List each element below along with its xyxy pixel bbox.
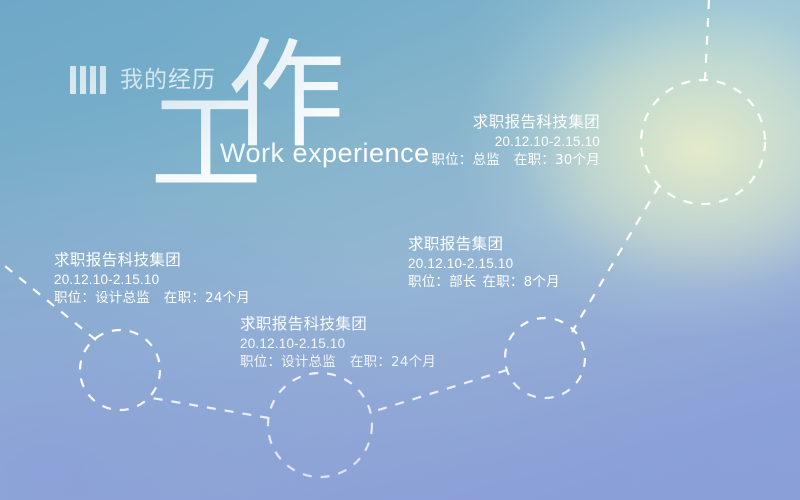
entry-meta: 职位：总监在职：30个月 xyxy=(431,151,600,170)
entry-position-label: 职位： xyxy=(431,152,472,168)
entry-meta: 职位：部长在职：8个月 xyxy=(408,273,560,292)
entry-dates: 20.12.10-2.15.10 xyxy=(431,132,600,151)
entry-company: 求职报告科技集团 xyxy=(54,250,250,270)
entry-left: 求职报告科技集团 20.12.10-2.15.10 职位：设计总监在职：24个月 xyxy=(54,250,250,308)
entry-position-label: 职位： xyxy=(408,274,449,290)
entry-tenure-label: 在职： xyxy=(514,152,555,168)
entry-dates: 20.12.10-2.15.10 xyxy=(408,254,560,273)
node-large-top-right xyxy=(641,80,765,204)
title-block: 我的经历 作 工 Work experience xyxy=(62,52,482,182)
entry-dates: 20.12.10-2.15.10 xyxy=(240,334,436,353)
bars-icon xyxy=(70,66,106,94)
entry-company: 求职报告科技集团 xyxy=(431,112,600,132)
entry-position-value: 部长 xyxy=(449,274,476,290)
entry-tenure-label: 在职： xyxy=(164,290,205,306)
timeline-segment-1 xyxy=(572,186,659,332)
timeline-segment-stem xyxy=(705,0,709,80)
entry-tenure-label: 在职： xyxy=(350,354,391,370)
entry-dates: 20.12.10-2.15.10 xyxy=(54,270,250,289)
entry-company: 求职报告集团 xyxy=(408,234,560,254)
entry-tenure-value: 24个月 xyxy=(205,290,250,306)
timeline-segment-2 xyxy=(372,370,507,412)
node-left xyxy=(80,330,160,410)
entry-position-label: 职位： xyxy=(54,290,95,306)
entry-position-value: 设计总监 xyxy=(281,354,336,370)
entry-tenure-value: 24个月 xyxy=(391,354,436,370)
entry-meta: 职位：设计总监在职：24个月 xyxy=(240,353,436,372)
subtitle-english: Work experience xyxy=(220,138,430,169)
entry-position-value: 设计总监 xyxy=(95,290,150,306)
timeline-segment-3 xyxy=(152,398,269,418)
entry-mid-right: 求职报告集团 20.12.10-2.15.10 职位：部长在职：8个月 xyxy=(408,234,560,292)
entry-tenure-value: 8个月 xyxy=(524,274,560,290)
entry-tenure-value: 30个月 xyxy=(555,152,600,168)
entry-company: 求职报告科技集团 xyxy=(240,314,436,334)
entry-position-value: 总监 xyxy=(473,152,500,168)
node-right xyxy=(505,318,585,398)
slide-canvas: 我的经历 作 工 Work experience 求职报告科技集团 20.12.… xyxy=(0,0,800,500)
node-center xyxy=(268,373,372,477)
entry-meta: 职位：设计总监在职：24个月 xyxy=(54,289,250,308)
entry-position-label: 职位： xyxy=(240,354,281,370)
entry-top-right: 求职报告科技集团 20.12.10-2.15.10 职位：总监在职：30个月 xyxy=(431,112,600,170)
entry-tenure-label: 在职： xyxy=(483,274,524,290)
entry-bottom-center: 求职报告科技集团 20.12.10-2.15.10 职位：设计总监在职：24个月 xyxy=(240,314,436,372)
